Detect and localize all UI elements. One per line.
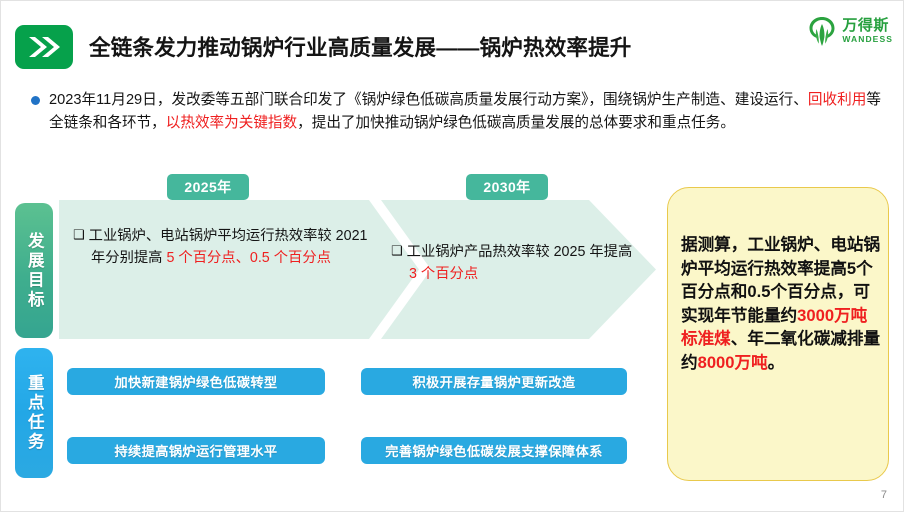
paragraph-highlight-1: 回收利用 bbox=[808, 92, 867, 108]
wandess-leaf-logo bbox=[807, 15, 837, 47]
stage-1-highlight: 5 个百分点、0.5 个百分点 bbox=[166, 250, 330, 266]
body-bullet-row: 2023年11月29日，发改委等五部门联合印发了《锅炉绿色低碳高质量发展行动方案… bbox=[31, 89, 881, 134]
body-paragraph: 2023年11月29日，发改委等五部门联合印发了《锅炉绿色低碳高质量发展行动方案… bbox=[49, 89, 881, 134]
page-title: 全链条发力推动锅炉行业高质量发展——锅炉热效率提升 bbox=[89, 31, 729, 62]
timeline-stage-1-text: ❑工业锅炉、电站锅炉平均运行热效率较 2021 年分别提高 5 个百分点、0.5… bbox=[73, 225, 373, 269]
slide-canvas: 全链条发力推动锅炉行业高质量发展——锅炉热效率提升 万得斯 WANDESS 20… bbox=[0, 0, 904, 512]
task-pill-operation-management[interactable]: 持续提高锅炉运行管理水平 bbox=[67, 437, 325, 464]
task-pill-label-1: 加快新建锅炉绿色低碳转型 bbox=[114, 372, 277, 391]
year-badge-label-2030: 2030年 bbox=[483, 177, 530, 197]
bullet-dot-icon bbox=[31, 96, 40, 105]
brand-logo: 万得斯 WANDESS bbox=[807, 15, 893, 47]
paragraph-segment-3: ，提出了加快推动锅炉绿色低碳高质量发展的总体要求和重点任务。 bbox=[297, 115, 735, 131]
callout-text: 据测算，工业锅炉、电站锅炉平均运行热效率提高5个百分点和0.5个百分点，可实现年… bbox=[681, 233, 881, 374]
sidebar-tag-label-task: 重点任务 bbox=[26, 374, 43, 452]
logo-text-en: WANDESS bbox=[842, 35, 893, 44]
checkbox-marker-icon-1: ❑ bbox=[73, 227, 85, 242]
task-pill-label-2: 积极开展存量锅炉更新改造 bbox=[412, 372, 575, 391]
year-badge-label-2025: 2025年 bbox=[184, 177, 231, 197]
year-badge-2025: 2025年 bbox=[167, 174, 249, 200]
task-pill-label-4: 完善锅炉绿色低碳发展支撑保障体系 bbox=[385, 441, 602, 460]
task-pill-new-boiler-transition[interactable]: 加快新建锅炉绿色低碳转型 bbox=[67, 368, 325, 395]
task-pill-existing-boiler-upgrade[interactable]: 积极开展存量锅炉更新改造 bbox=[361, 368, 627, 395]
timeline-stage-2-text: ❑工业锅炉产品热效率较 2025 年提高 3 个百分点 bbox=[391, 241, 641, 285]
callout-highlight-2: 8000万吨 bbox=[698, 353, 768, 372]
page-number: 7 bbox=[881, 489, 887, 501]
sidebar-tag-key-tasks: 重点任务 bbox=[15, 348, 53, 478]
task-pill-support-system[interactable]: 完善锅炉绿色低碳发展支撑保障体系 bbox=[361, 437, 627, 464]
checkbox-marker-icon-2: ❑ bbox=[391, 243, 403, 258]
logo-text-cn: 万得斯 bbox=[842, 18, 893, 33]
stage-2-segment-1: 工业锅炉产品热效率较 2025 年提高 bbox=[407, 244, 633, 260]
callout-segment-3: 。 bbox=[768, 353, 785, 372]
sidebar-tag-development-goal: 发展目标 bbox=[15, 203, 53, 338]
paragraph-segment-1: 2023年11月29日，发改委等五部门联合印发了《锅炉绿色低碳高质量发展行动方案… bbox=[49, 92, 808, 108]
double-chevron-right-icon bbox=[15, 25, 73, 69]
task-pill-label-3: 持续提高锅炉运行管理水平 bbox=[114, 441, 277, 460]
year-badge-2030: 2030年 bbox=[466, 174, 548, 200]
sidebar-tag-label-goal: 发展目标 bbox=[26, 232, 43, 310]
paragraph-highlight-2: 以热效率为关键指数 bbox=[166, 115, 297, 131]
stage-2-highlight: 3 个百分点 bbox=[409, 266, 478, 282]
